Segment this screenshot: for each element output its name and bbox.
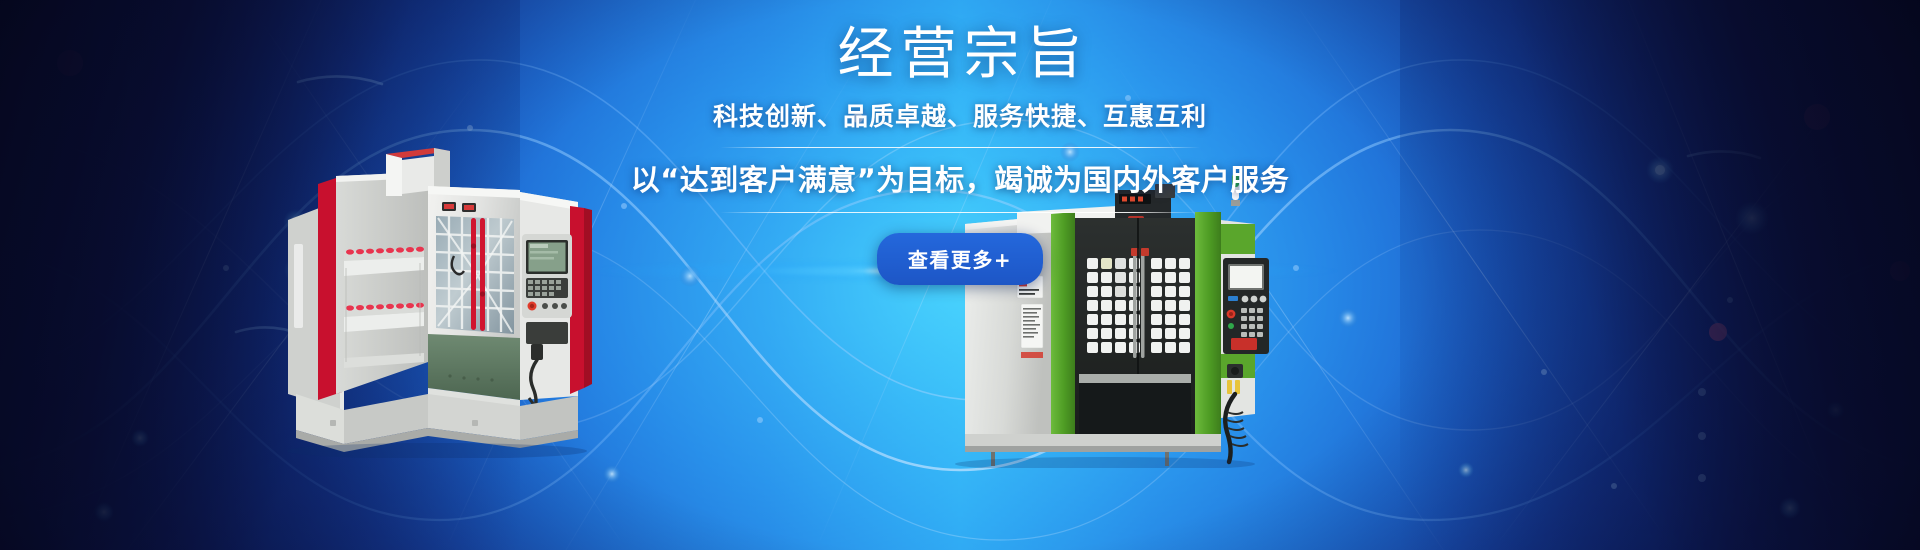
page-title: 经营宗旨	[580, 26, 1340, 85]
cta-container: 查看更多+	[580, 233, 1340, 285]
view-more-button[interactable]: 查看更多+	[877, 233, 1043, 285]
divider-bottom	[720, 212, 1200, 213]
banner-tagline: 以“达到客户满意”为目标，竭诚为国内外客户服务	[580, 162, 1340, 198]
banner-copy-block: 经营宗旨 科技创新、品质卓越、服务快捷、互惠互利 以“达到客户满意”为目标，竭诚…	[580, 26, 1340, 285]
banner-subtitle: 科技创新、品质卓越、服务快捷、互惠互利	[580, 101, 1340, 132]
hero-banner: 经营宗旨 科技创新、品质卓越、服务快捷、互惠互利 以“达到客户满意”为目标，竭诚…	[0, 0, 1920, 550]
cnc-machine-left-image	[282, 148, 612, 458]
divider-top	[720, 147, 1200, 148]
